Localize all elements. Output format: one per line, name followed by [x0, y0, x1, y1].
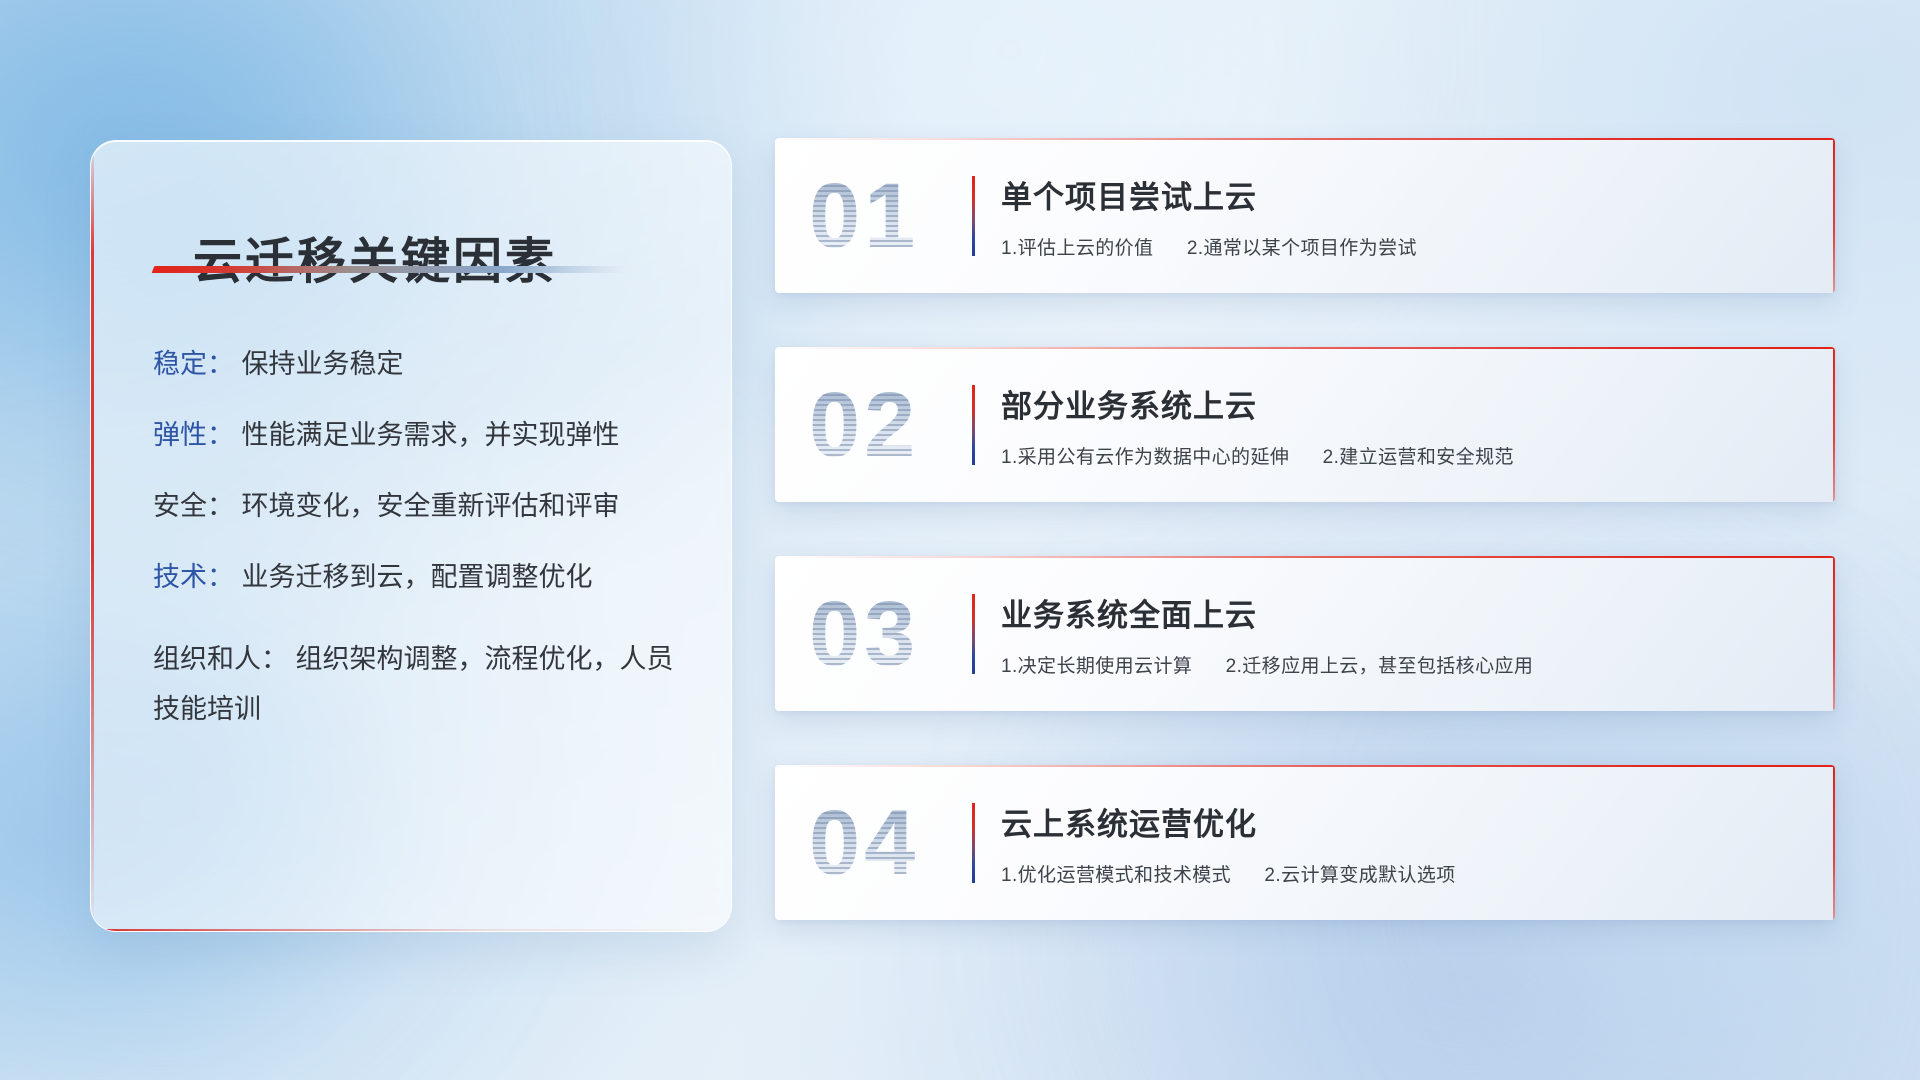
step-card-02[interactable]: 02 部分业务系统上云 1.采用公有云作为数据中心的延伸 2.建立运营和安全规范 [775, 347, 1835, 502]
step-description-part: 2.通常以某个项目作为尝试 [1187, 238, 1417, 259]
step-content: 单个项目尝试上云 1.评估上云的价值 2.通常以某个项目作为尝试 [1001, 172, 1805, 260]
step-title: 业务系统全面上云 [1001, 590, 1805, 635]
step-divider-bar [972, 594, 975, 674]
key-factors-list: 稳定： 保持业务稳定 弹性： 性能满足业务需求，并实现弹性 安全： 环境变化，安… [153, 351, 691, 735]
step-content: 业务系统全面上云 1.决定长期使用云计算 2.迁移应用上云，甚至包括核心应用 [1001, 590, 1805, 678]
factor-value: 环境变化，安全重新评估和评审 [242, 491, 620, 521]
factor-label: 技术： [153, 562, 234, 592]
list-item: 稳定： 保持业务稳定 [153, 351, 691, 378]
title-underline-gradient [152, 266, 629, 273]
factor-value: 保持业务稳定 [242, 349, 404, 379]
step-divider-bar [972, 803, 975, 883]
step-description-part: 1.评估上云的价值 [1001, 238, 1153, 259]
migration-steps-list: 01 单个项目尝试上云 1.评估上云的价值 2.通常以某个项目作为尝试 02 部… [775, 138, 1835, 920]
step-description: 1.优化运营模式和技术模式 2.云计算变成默认选项 [1001, 860, 1805, 887]
factor-value: 性能满足业务需求，并实现弹性 [242, 420, 620, 450]
step-content: 部分业务系统上云 1.采用公有云作为数据中心的延伸 2.建立运营和安全规范 [1001, 381, 1805, 469]
step-description-part: 2.云计算变成默认选项 [1264, 865, 1455, 886]
step-content: 云上系统运营优化 1.优化运营模式和技术模式 2.云计算变成默认选项 [1001, 799, 1805, 887]
step-number: 02 [809, 379, 919, 471]
step-divider-bar [972, 385, 975, 465]
factor-label: 弹性： [153, 420, 234, 450]
step-description-part: 2.建立运营和安全规范 [1323, 447, 1514, 468]
step-divider-bar [972, 176, 975, 256]
step-card-04[interactable]: 04 云上系统运营优化 1.优化运营模式和技术模式 2.云计算变成默认选项 [775, 765, 1835, 920]
factor-value: 业务迁移到云，配置调整优化 [242, 562, 593, 592]
factor-label: 组织和人： [153, 644, 288, 674]
key-factors-panel: 云迁移关键因素 稳定： 保持业务稳定 弹性： 性能满足业务需求，并实现弹性 安全… [90, 140, 732, 932]
step-description-part: 1.采用公有云作为数据中心的延伸 [1001, 447, 1289, 468]
step-card-01[interactable]: 01 单个项目尝试上云 1.评估上云的价值 2.通常以某个项目作为尝试 [775, 138, 1835, 293]
step-number: 01 [809, 170, 919, 262]
step-number: 03 [809, 588, 919, 680]
list-item: 安全： 环境变化，安全重新评估和评审 [153, 493, 691, 520]
factor-label: 稳定： [153, 349, 234, 379]
step-number: 04 [809, 797, 919, 889]
step-description-part: 2.迁移应用上云，甚至包括核心应用 [1226, 656, 1534, 677]
step-title: 部分业务系统上云 [1001, 381, 1805, 426]
step-description-part: 1.优化运营模式和技术模式 [1001, 865, 1231, 886]
step-card-03[interactable]: 03 业务系统全面上云 1.决定长期使用云计算 2.迁移应用上云，甚至包括核心应… [775, 556, 1835, 711]
step-description: 1.采用公有云作为数据中心的延伸 2.建立运营和安全规范 [1001, 442, 1805, 469]
step-title: 云上系统运营优化 [1001, 799, 1805, 844]
list-item: 组织和人： 组织架构调整，流程优化，人员技能培训 [153, 635, 691, 735]
step-title: 单个项目尝试上云 [1001, 172, 1805, 217]
list-item: 技术： 业务迁移到云，配置调整优化 [153, 564, 691, 591]
factor-label: 安全： [153, 491, 234, 521]
slide-canvas: 云迁移关键因素 稳定： 保持业务稳定 弹性： 性能满足业务需求，并实现弹性 安全… [0, 0, 1920, 1080]
list-item: 弹性： 性能满足业务需求，并实现弹性 [153, 422, 691, 449]
page-title: 云迁移关键因素 [193, 222, 557, 293]
step-description: 1.决定长期使用云计算 2.迁移应用上云，甚至包括核心应用 [1001, 651, 1805, 678]
step-description-part: 1.决定长期使用云计算 [1001, 656, 1192, 677]
step-description: 1.评估上云的价值 2.通常以某个项目作为尝试 [1001, 233, 1805, 260]
